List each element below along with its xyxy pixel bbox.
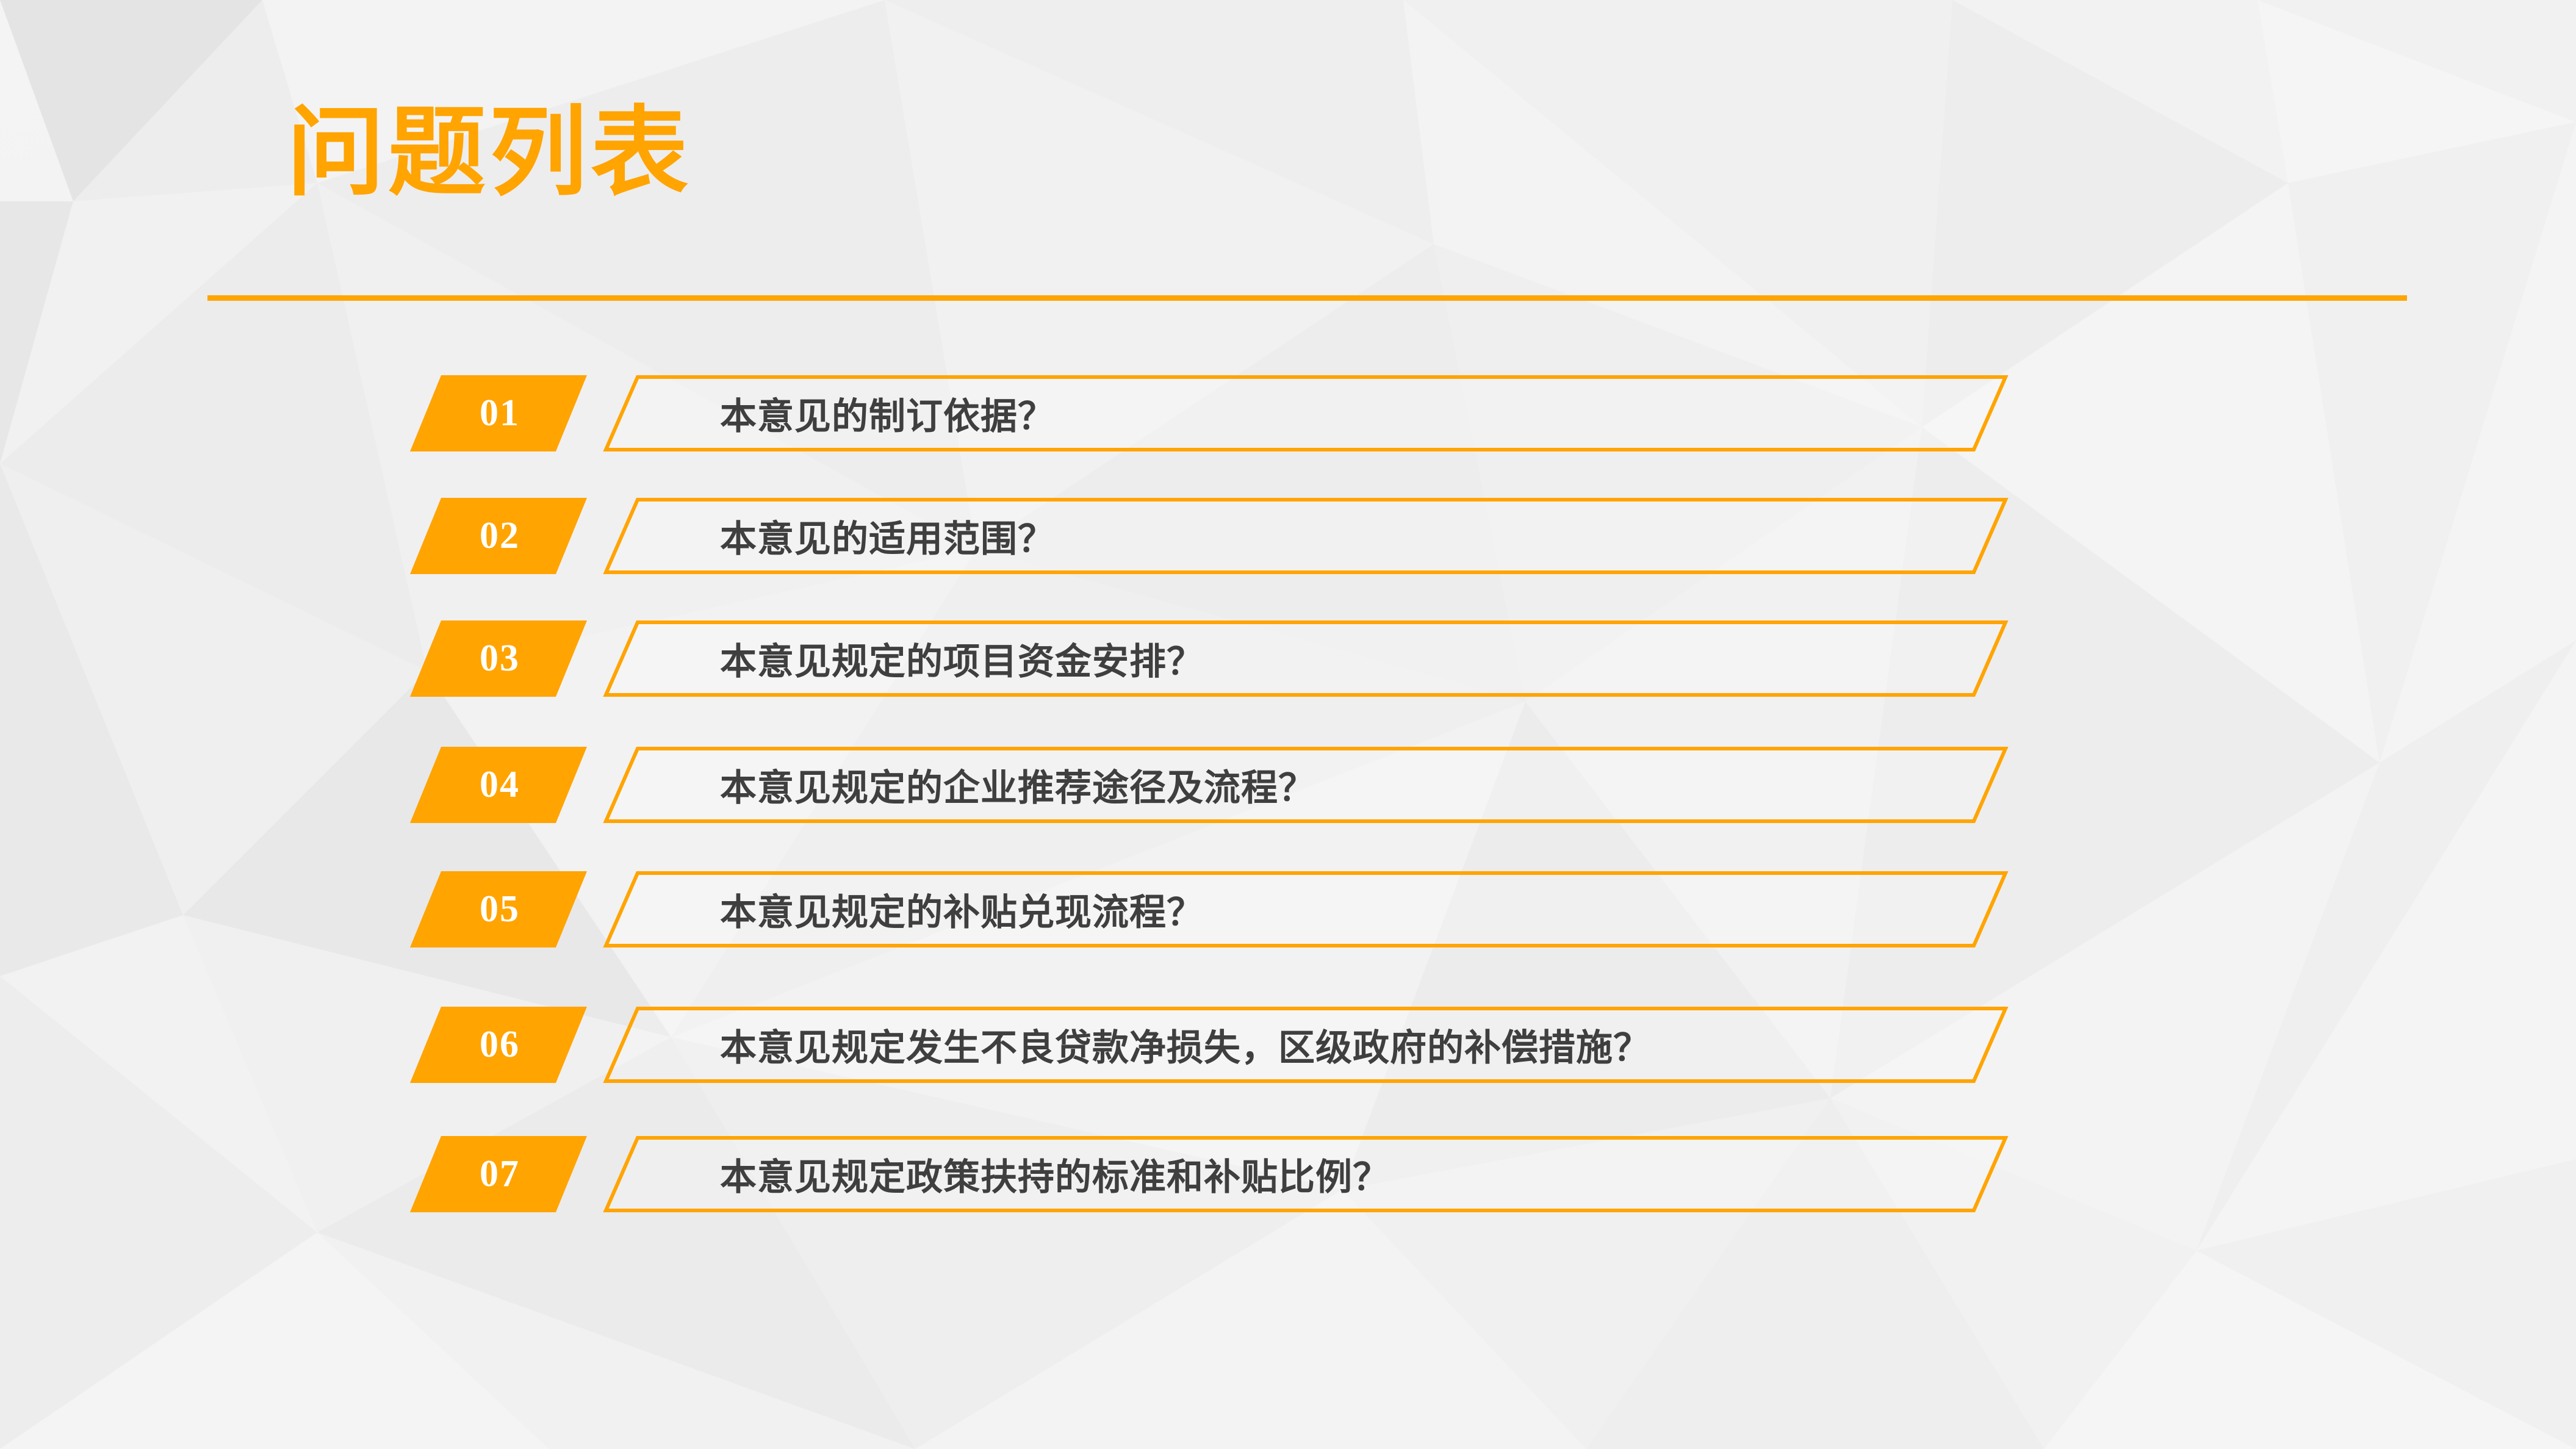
- question-box-1[interactable]: 本意见的制订依据？: [604, 375, 2007, 451]
- question-text-4: 本意见规定的企业推荐途径及流程？: [720, 747, 1315, 823]
- slide-root: 问题列表 01 本意见的制订依据？ 02 本意见: [0, 0, 2576, 1449]
- question-text-7: 本意见规定政策扶持的标准和补贴比例？: [720, 1136, 1390, 1212]
- question-box-6[interactable]: 本意见规定发生不良贷款净损失，区级政府的补偿措施？: [604, 1007, 2007, 1083]
- question-row-6[interactable]: 06 本意见规定发生不良贷款净损失，区级政府的补偿措施？: [0, 1007, 2576, 1083]
- question-number-badge-5: 05: [410, 871, 587, 947]
- question-text-1: 本意见的制订依据？: [720, 375, 1055, 451]
- question-row-1[interactable]: 01 本意见的制订依据？: [0, 375, 2576, 451]
- question-number-badge-7: 07: [410, 1136, 587, 1212]
- question-box-7[interactable]: 本意见规定政策扶持的标准和补贴比例？: [604, 1136, 2007, 1212]
- question-box-5[interactable]: 本意见规定的补贴兑现流程？: [604, 871, 2007, 947]
- question-box-2[interactable]: 本意见的适用范围？: [604, 498, 2007, 574]
- question-row-7[interactable]: 07 本意见规定政策扶持的标准和补贴比例？: [0, 1136, 2576, 1212]
- question-number-badge-4: 04: [410, 747, 587, 823]
- question-text-6: 本意见规定发生不良贷款净损失，区级政府的补偿措施？: [720, 1007, 1650, 1083]
- question-number-3: 03: [480, 637, 520, 680]
- question-number-badge-3: 03: [410, 620, 587, 697]
- question-number-6: 06: [480, 1023, 520, 1066]
- question-row-2[interactable]: 02 本意见的适用范围？: [0, 498, 2576, 574]
- question-number-7: 07: [480, 1152, 520, 1196]
- question-text-2: 本意见的适用范围？: [720, 498, 1055, 574]
- question-row-4[interactable]: 04 本意见规定的企业推荐途径及流程？: [0, 747, 2576, 823]
- question-box-3[interactable]: 本意见规定的项目资金安排？: [604, 620, 2007, 697]
- question-number-1: 01: [480, 392, 520, 435]
- question-number-5: 05: [480, 888, 520, 931]
- question-number-badge-1: 01: [410, 375, 587, 451]
- question-list: 01 本意见的制订依据？ 02 本意见的适用范围？: [0, 0, 2576, 1449]
- question-text-5: 本意见规定的补贴兑现流程？: [720, 871, 1204, 947]
- question-number-badge-6: 06: [410, 1007, 587, 1083]
- question-number-4: 04: [480, 763, 520, 807]
- question-number-badge-2: 02: [410, 498, 587, 574]
- question-number-2: 02: [480, 514, 520, 558]
- question-text-3: 本意见规定的项目资金安排？: [720, 620, 1204, 697]
- question-row-3[interactable]: 03 本意见规定的项目资金安排？: [0, 620, 2576, 697]
- question-box-4[interactable]: 本意见规定的企业推荐途径及流程？: [604, 747, 2007, 823]
- question-row-5[interactable]: 05 本意见规定的补贴兑现流程？: [0, 871, 2576, 947]
